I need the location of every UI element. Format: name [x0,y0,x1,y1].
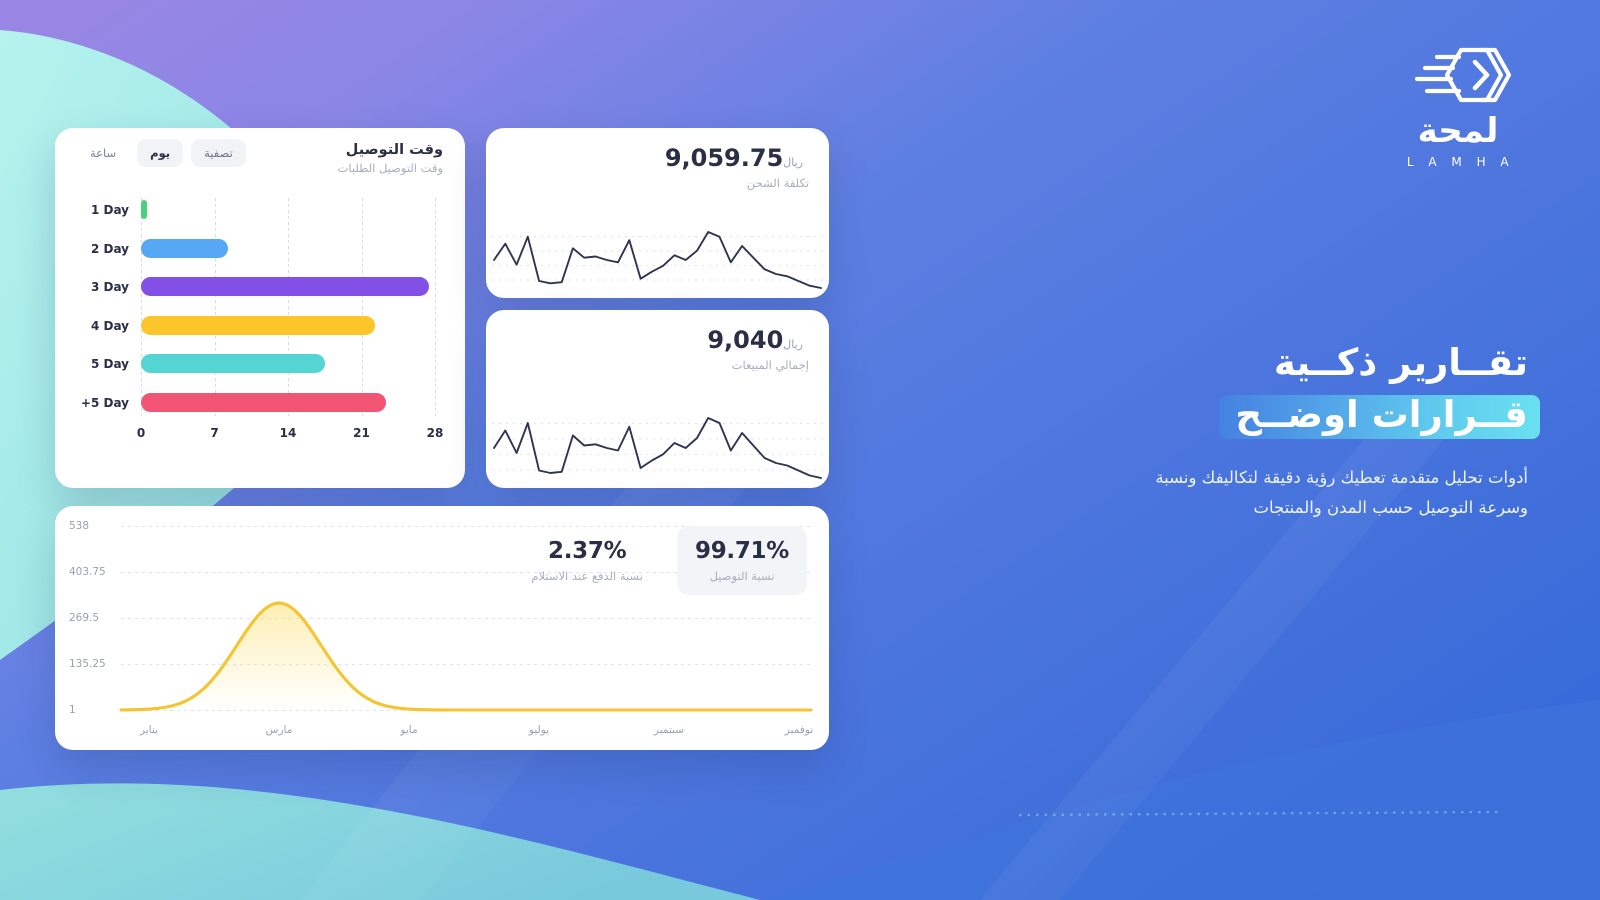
bar-gridline [362,198,363,416]
delivery-bar-chart: 071421281 Day2 Day3 Day4 Day5 Day+5 Day [55,186,465,486]
brand-logo: لمحة L A M H A [1388,44,1528,169]
total-sales-currency: ريال [783,338,803,351]
brand-name-latin: L A M H A [1388,155,1528,169]
stat-cod-rate-value: 2.37% [531,538,643,564]
bar-category-label: 1 Day [71,204,129,216]
shipping-cost-currency: ريال [783,156,803,169]
bar-segment[interactable] [141,277,429,296]
promo-copy: تقــارير ذكــية قــرارات اوضــح أدوات تح… [1108,340,1528,524]
bar-gridline [141,198,142,416]
promo-headline-1: تقــارير ذكــية [1108,340,1528,386]
delivery-time-card: وقت التوصيل وقت التوصيل الطلبات تصفية يو… [55,128,465,488]
bar-x-tick: 21 [353,426,370,440]
delivery-card-titles: وقت التوصيل وقت التوصيل الطلبات [338,142,443,175]
bar-segment[interactable] [141,393,386,412]
total-sales-card: ريال9,040 إجمالي المبيعات [486,310,829,488]
stat-delivery-rate[interactable]: 99.71% نسبة التوصيل [677,526,807,595]
total-sales-header: ريال9,040 إجمالي المبيعات [707,326,809,372]
segment-filter[interactable]: تصفية [191,139,246,167]
segment-hour[interactable]: ساعة [77,139,129,167]
bar-x-tick: 28 [427,426,444,440]
total-sales-sparkline [486,404,829,488]
brand-name-ar: لمحة [1388,114,1528,148]
total-sales-label: إجمالي المبيعات [707,358,809,372]
bar-category-label: 4 Day [71,320,129,332]
bar-gridline [288,198,289,416]
stat-cod-rate-label: نسبة الدفع عند الاستلام [531,569,643,583]
promo-body-text: أدوات تحليل متقدمة تعطيك رؤية دقيقة لتكا… [1108,463,1528,524]
shipping-cost-number: 9,059.75 [665,144,783,172]
bar-category-label: 5 Day [71,358,129,370]
bar-category-label: +5 Day [71,397,129,409]
hexagon-arrow-icon [1403,44,1513,106]
shipping-cost-header: ريال9,059.75 تكلفة الشحن [665,144,809,190]
stat-delivery-rate-label: نسبة التوصيل [695,569,789,583]
total-sales-number: 9,040 [707,326,783,354]
bar-x-tick: 7 [210,426,218,440]
shipping-cost-label: تكلفة الشحن [665,176,809,190]
bar-segment[interactable] [141,200,147,219]
shipping-cost-value: ريال9,059.75 [665,144,809,172]
shipping-cost-sparkline [486,218,829,298]
monthly-trend-card: 538403.75269.5135.251ينايرمارسمايويوليوس… [55,506,829,750]
bar-category-label: 2 Day [71,243,129,255]
segment-day[interactable]: يوم [137,139,183,167]
bar-segment[interactable] [141,239,228,258]
promo-headline-2: قــرارات اوضــح [1235,392,1528,438]
delivery-segment-group: تصفية يوم ساعة [77,139,246,167]
bar-category-label: 3 Day [71,281,129,293]
rate-stats-row: 99.71% نسبة التوصيل 2.37% نسبة الدفع عند… [513,526,807,595]
shipping-cost-card: ريال9,059.75 تكلفة الشحن [486,128,829,298]
stat-delivery-rate-value: 99.71% [695,538,789,564]
promo-headline-2-wrap: قــرارات اوضــح [1235,392,1528,438]
bar-segment[interactable] [141,316,375,335]
total-sales-value: ريال9,040 [707,326,809,354]
delivery-card-title: وقت التوصيل [338,142,443,158]
bar-x-tick: 0 [137,426,145,440]
delivery-card-header: وقت التوصيل وقت التوصيل الطلبات تصفية يو… [55,128,465,186]
bar-gridline [215,198,216,416]
stat-cod-rate[interactable]: 2.37% نسبة الدفع عند الاستلام [513,526,661,595]
delivery-card-subtitle: وقت التوصيل الطلبات [338,161,443,175]
bar-x-tick: 14 [280,426,297,440]
bar-segment[interactable] [141,354,325,373]
bar-gridline [435,198,436,416]
